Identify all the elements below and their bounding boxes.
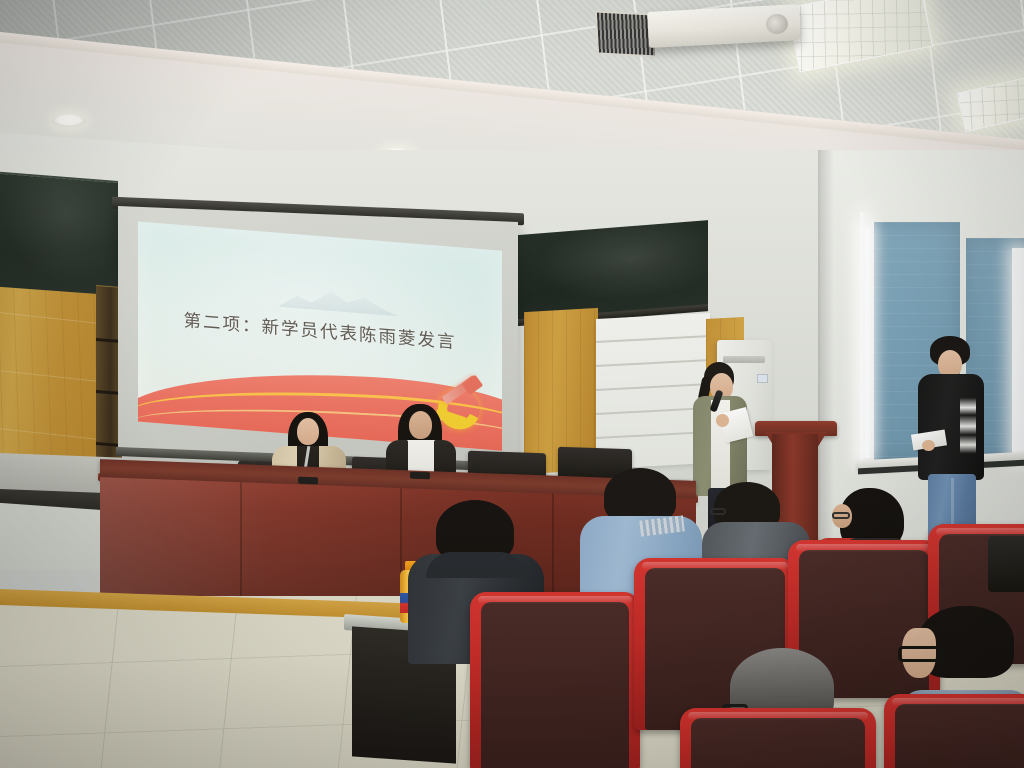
theater-seat-5[interactable]	[680, 708, 876, 768]
dark-equipment-right	[988, 536, 1024, 592]
panelist-right-face	[409, 411, 432, 439]
blackboard-left	[0, 171, 118, 299]
audience-hoodie-hood	[426, 552, 526, 578]
window-light-gap-3	[1012, 248, 1024, 460]
desk-microphone-1	[298, 477, 318, 485]
panelist-left-face	[297, 418, 319, 445]
audience-grey-glasses-icon	[710, 508, 726, 515]
cabinet-label	[757, 374, 768, 383]
speaker-hand	[716, 414, 729, 427]
desk-microphone-2	[410, 472, 430, 480]
audience-front-blue-glasses-icon	[898, 646, 944, 662]
student-hoodie-sleeve-graphic	[960, 394, 976, 456]
window-light-gap-2	[860, 212, 865, 462]
theater-seat-6[interactable]	[884, 694, 1024, 768]
downlight-1	[52, 114, 86, 127]
theater-seat-1[interactable]	[470, 592, 640, 768]
audience-red-glasses-icon	[832, 512, 850, 519]
student-hand	[922, 440, 935, 451]
lecture-hall-photo: 第二项：新学员代表陈雨菱发言	[0, 0, 1024, 768]
